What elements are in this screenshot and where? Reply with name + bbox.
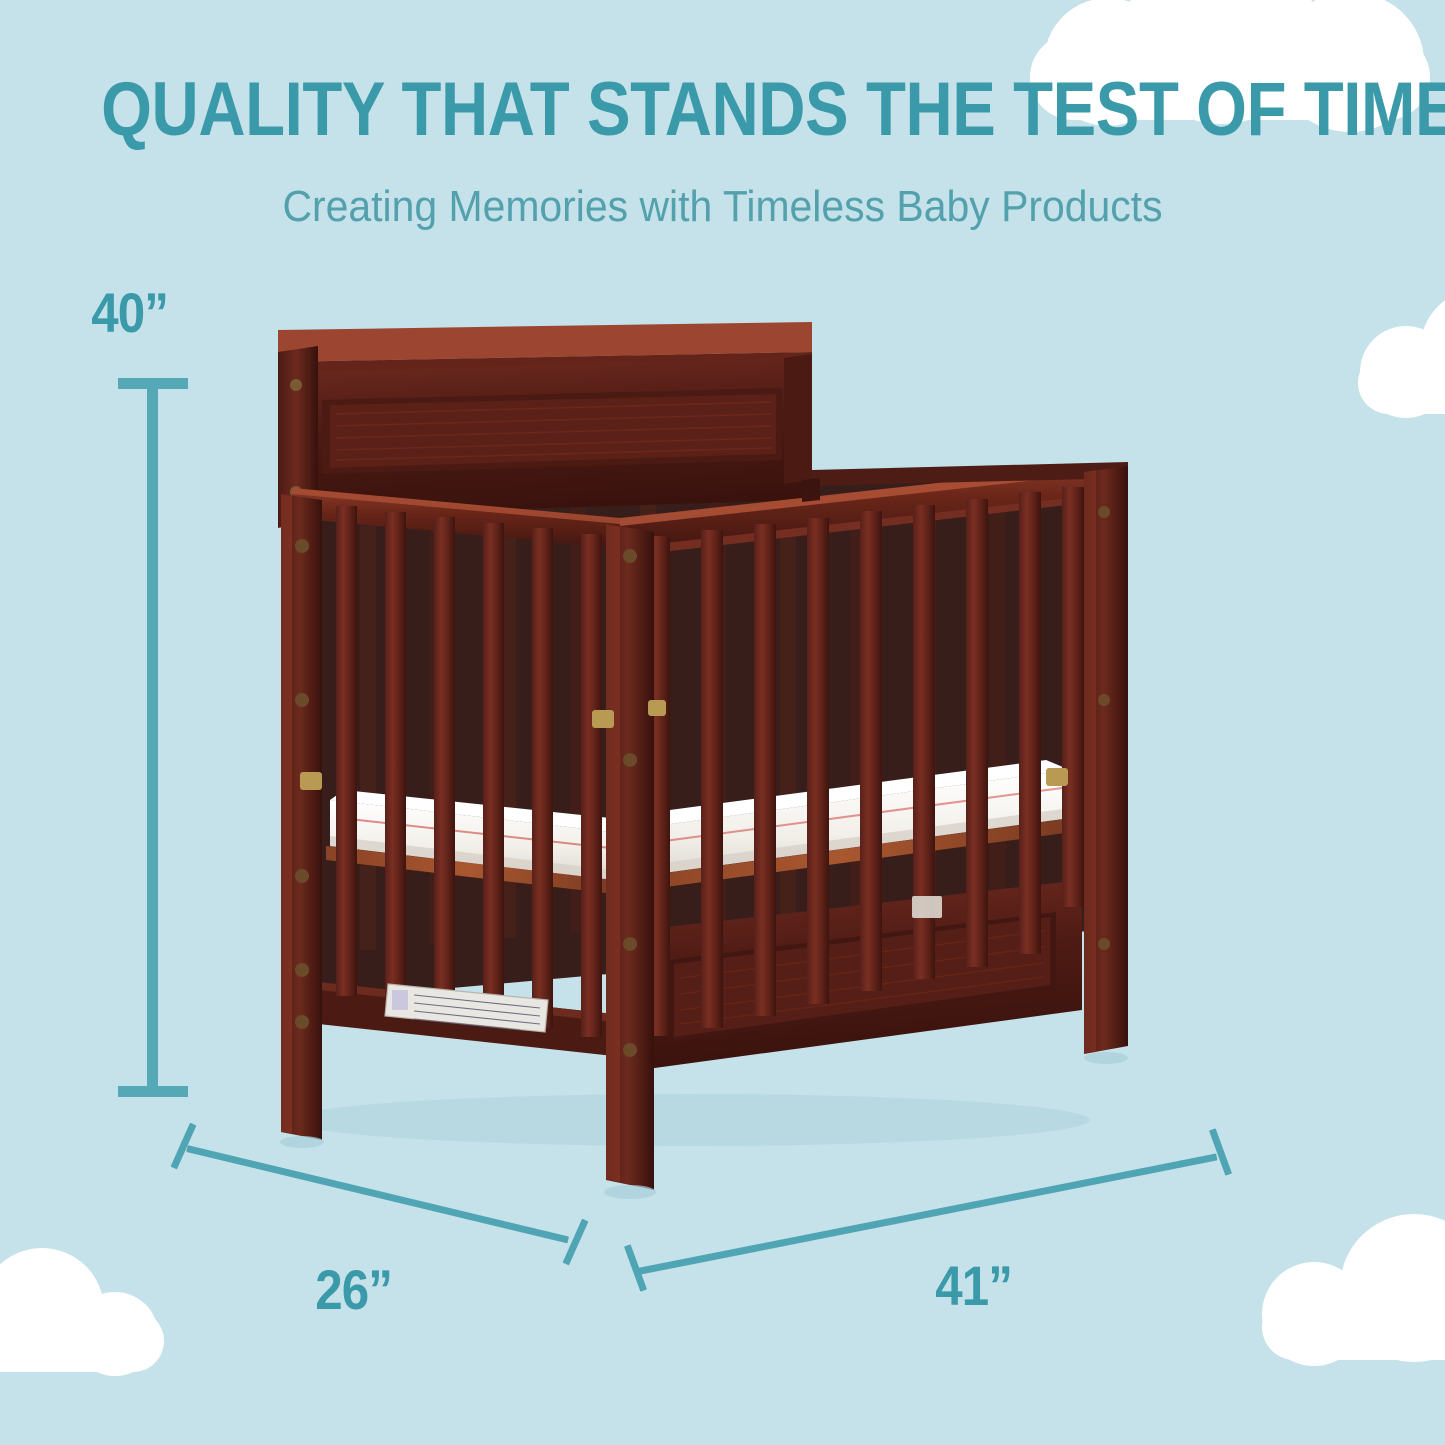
dimension-height-cap-bottom (118, 1086, 188, 1097)
dimension-width-label: 41” (935, 1258, 1012, 1314)
infographic-canvas: QUALITY THAT STANDS THE TEST OF TIME Cre… (0, 0, 1445, 1445)
dimension-height-line (147, 382, 158, 1094)
dimension-depth-label: 26” (315, 1262, 392, 1318)
crib-illustration (0, 0, 1445, 1445)
dimension-height-label: 40” (91, 285, 168, 341)
dimension-height-cap-top (118, 378, 188, 389)
